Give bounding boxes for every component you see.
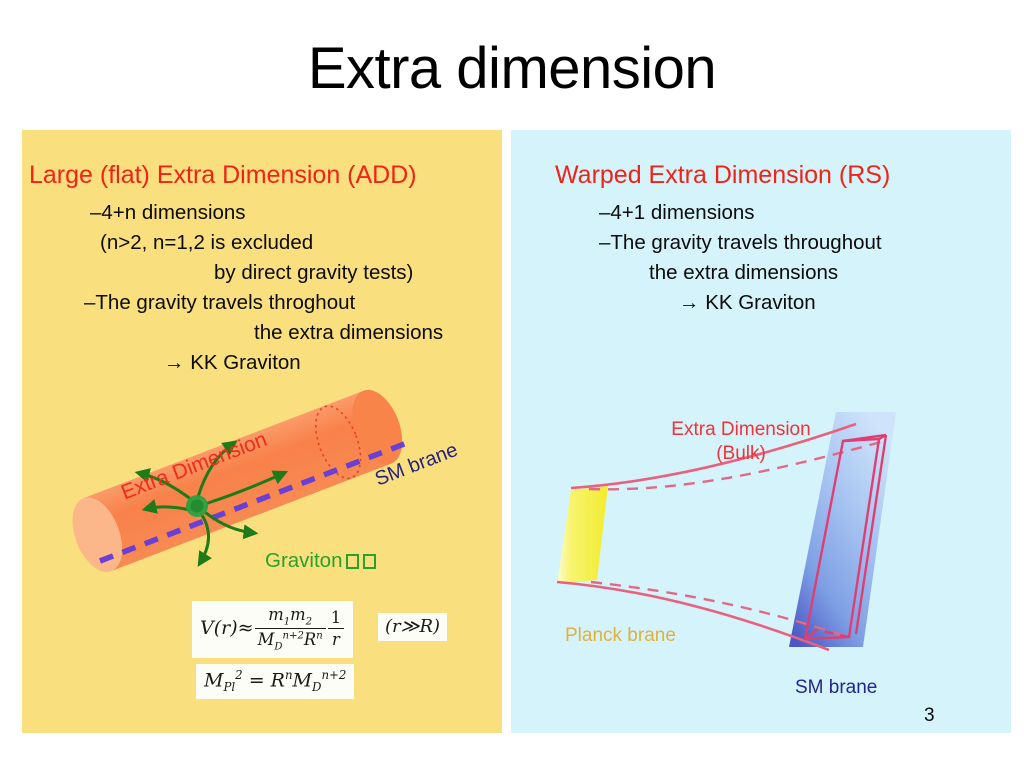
- add-bullet-5: → KK Graviton: [164, 350, 301, 375]
- bulk-label: Extra Dimension (Bulk): [651, 418, 831, 466]
- add-bullet-4: the extra dimensions: [254, 320, 443, 345]
- rs-bullet-0: –4+1 dimensions: [599, 200, 755, 225]
- add-bullet-0: –4+n dimensions: [90, 200, 246, 225]
- rs-panel-heading: Warped Extra Dimension (RS): [555, 160, 890, 190]
- bulk-label-line1: Extra Dimension: [651, 418, 831, 442]
- rs-bullet-2: the extra dimensions: [649, 260, 838, 285]
- rs-bullet-3: → KK Graviton: [679, 290, 816, 315]
- add-bullet-1: (n>2, n=1,2 is excluded: [100, 230, 313, 255]
- slide-number: 3: [924, 705, 935, 727]
- rs-sm-brane-label: SM brane: [795, 677, 877, 699]
- missing-glyph-box-1: [346, 554, 359, 569]
- formula-range-condition: (r≫R): [378, 613, 447, 641]
- formula-planck-mass: MPl2 = RnMDn+2: [196, 664, 354, 699]
- graviton-label: Graviton: [265, 549, 376, 573]
- missing-glyph-box-2: [363, 554, 376, 569]
- planck-brane-label: Planck brane: [565, 625, 676, 647]
- cylinder-diagram: [22, 385, 502, 585]
- bulk-label-line2: (Bulk): [651, 442, 831, 466]
- add-bullet-3: –The gravity travels throghout: [84, 290, 355, 315]
- page-title: Extra dimension: [0, 36, 1024, 102]
- add-bullet-2: by direct gravity tests): [214, 260, 413, 285]
- formula-newtonian-potential: V(r)≈m1m2MDn+2Rn1r: [192, 601, 353, 658]
- rs-bullet-1: –The gravity travels throughout: [599, 230, 882, 255]
- graviton-label-text: Graviton: [265, 549, 342, 572]
- add-panel-heading: Large (flat) Extra Dimension (ADD): [29, 160, 417, 190]
